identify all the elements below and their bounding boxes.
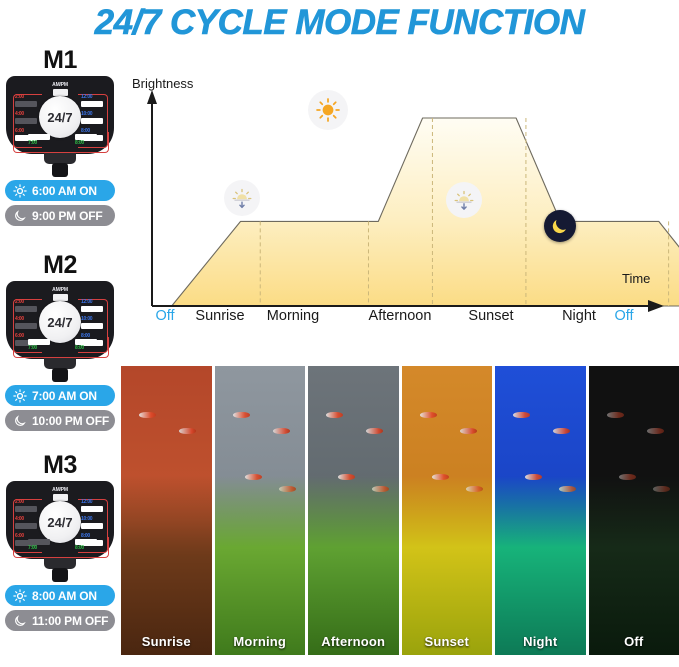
timer-button-switch[interactable] xyxy=(15,118,37,124)
fish-silhouette xyxy=(607,412,624,418)
timer-controller-device[interactable]: AM/PM24/72:004:006:0012:0010:008:007:008… xyxy=(6,76,114,176)
x-tick-off-0: Off xyxy=(155,308,174,324)
moon-icon xyxy=(13,209,27,223)
moon-icon xyxy=(13,414,27,428)
y-axis-arrow xyxy=(147,90,157,104)
schedule-off-badge: 11:00 PM OFF xyxy=(5,610,115,631)
fish-silhouette xyxy=(553,428,570,434)
timer-button-label: 8:00 xyxy=(75,345,97,351)
panel-plants xyxy=(402,476,493,655)
timer-button-label: 7:00 xyxy=(28,345,50,351)
timer-button-switch[interactable] xyxy=(15,323,37,329)
timer-button-label: 10:00 xyxy=(81,316,103,322)
timer-button-right-0[interactable]: 12:00 xyxy=(81,299,103,312)
photo-panel-sunset: Sunset xyxy=(402,366,493,655)
x-tick-sunrise-1: Sunrise xyxy=(195,308,244,324)
mode-title: M2 xyxy=(0,251,120,279)
panel-plants xyxy=(215,476,306,655)
timer-controller-device[interactable]: AM/PM24/72:004:006:0012:0010:008:007:008… xyxy=(6,281,114,381)
brightness-cycle-chart: Brightness Time xyxy=(124,78,679,336)
photo-panel-off: Off xyxy=(589,366,679,655)
panel-plants xyxy=(495,476,586,655)
timer-button-label: 10:00 xyxy=(81,516,103,522)
timer-button-left-1[interactable]: 4:00 xyxy=(15,316,37,329)
timer-button-right-0[interactable]: 12:00 xyxy=(81,499,103,512)
fish-silhouette xyxy=(647,428,664,434)
sun-icon xyxy=(308,90,348,130)
timer-button-switch[interactable] xyxy=(15,523,37,529)
timer-button-label: 4:00 xyxy=(15,316,37,322)
chart-svg: Brightness Time xyxy=(124,78,679,336)
fish-silhouette xyxy=(273,428,290,434)
y-axis-label: Brightness xyxy=(132,78,194,91)
timer-button-label: 12:00 xyxy=(81,499,103,505)
x-tick-sunset-4: Sunset xyxy=(468,308,513,324)
sun-icon xyxy=(13,389,27,403)
timer-button-label: 2:00 xyxy=(15,499,37,505)
schedule-on-badge: 7:00 AM ON xyxy=(5,385,115,406)
timer-button-label: 4:00 xyxy=(15,111,37,117)
mode-block-m1: M1AM/PM24/72:004:006:0012:0010:008:007:0… xyxy=(0,46,120,226)
schedule-off-label: 9:00 PM OFF xyxy=(32,209,102,223)
timer-button-switch[interactable] xyxy=(81,523,103,529)
ampm-button[interactable]: AM/PM xyxy=(47,287,73,301)
panel-plants xyxy=(121,476,212,655)
timer-button-label: 7:00 xyxy=(28,545,50,551)
timer-button-switch[interactable] xyxy=(81,506,103,512)
fish-silhouette xyxy=(420,412,437,418)
timer-button-right-1[interactable]: 10:00 xyxy=(81,516,103,529)
ampm-label: AM/PM xyxy=(47,287,73,293)
schedule-on-label: 7:00 AM ON xyxy=(32,389,97,403)
timer-button-label: 12:00 xyxy=(81,299,103,305)
sunset-icon xyxy=(446,182,482,218)
device-cable xyxy=(52,568,68,582)
timer-button-switch[interactable] xyxy=(81,306,103,312)
timer-button-bottom-0[interactable]: 7:00 xyxy=(28,538,50,551)
x-axis-tick-labels: OffSunriseMorningAfternoonSunsetNightOff xyxy=(124,308,679,332)
ampm-label: AM/PM xyxy=(47,82,73,88)
ampm-label: AM/PM xyxy=(47,487,73,493)
fish-silhouette xyxy=(513,412,530,418)
timer-button-label: 8:00 xyxy=(75,545,97,551)
ampm-switch[interactable] xyxy=(53,494,68,501)
cycle-knob[interactable]: 24/7 xyxy=(39,96,81,138)
fish-silhouette xyxy=(179,428,196,434)
timer-button-switch[interactable] xyxy=(15,306,37,312)
timer-button-right-0[interactable]: 12:00 xyxy=(81,94,103,107)
sun-icon xyxy=(13,184,27,198)
fish-silhouette xyxy=(326,412,343,418)
panel-plants xyxy=(308,476,399,655)
timer-button-switch[interactable] xyxy=(81,118,103,124)
photo-panel-caption: Off xyxy=(589,634,679,649)
timer-button-right-1[interactable]: 10:00 xyxy=(81,316,103,329)
ampm-button[interactable]: AM/PM xyxy=(47,82,73,96)
photo-panel-sunrise: Sunrise xyxy=(121,366,212,655)
x-axis-label: Time xyxy=(622,271,650,286)
schedule-on-label: 6:00 AM ON xyxy=(32,184,97,198)
photo-panel-caption: Sunset xyxy=(402,634,493,649)
timer-button-switch[interactable] xyxy=(15,101,37,107)
photo-panel-caption: Morning xyxy=(215,634,306,649)
schedule-on-badge: 8:00 AM ON xyxy=(5,585,115,606)
photo-panel-caption: Night xyxy=(495,634,586,649)
cycle-knob[interactable]: 24/7 xyxy=(39,301,81,343)
x-tick-off-6: Off xyxy=(614,308,633,324)
timer-button-switch[interactable] xyxy=(15,506,37,512)
timer-button-bottom-1[interactable]: 8:00 xyxy=(75,133,97,146)
fish-silhouette xyxy=(366,428,383,434)
timer-button-bottom-1[interactable]: 8:00 xyxy=(75,538,97,551)
sun-icon xyxy=(13,589,27,603)
schedule-on-badge: 6:00 AM ON xyxy=(5,180,115,201)
ampm-button[interactable]: AM/PM xyxy=(47,487,73,501)
timer-button-label: 8:00 xyxy=(75,140,97,146)
schedule-off-label: 11:00 PM OFF xyxy=(32,614,108,628)
timer-button-label: 10:00 xyxy=(81,111,103,117)
timer-button-bottom-0[interactable]: 7:00 xyxy=(28,338,50,351)
schedule-off-label: 10:00 PM OFF xyxy=(32,414,109,428)
timer-button-left-0[interactable]: 2:00 xyxy=(15,94,37,107)
mode-block-m2: M2AM/PM24/72:004:006:0012:0010:008:007:0… xyxy=(0,251,120,431)
aquarium-photo-strip: SunriseMorningAfternoonSunsetNightOff xyxy=(121,366,679,655)
timer-button-label: 7:00 xyxy=(28,140,50,146)
schedule-off-badge: 9:00 PM OFF xyxy=(5,205,115,226)
sunrise-icon xyxy=(224,180,260,216)
mode-title: M1 xyxy=(0,46,120,74)
photo-panel-night: Night xyxy=(495,366,586,655)
timer-controller-device[interactable]: AM/PM24/72:004:006:0012:0010:008:007:008… xyxy=(6,481,114,581)
timer-button-switch[interactable] xyxy=(81,323,103,329)
timer-button-bottom-0[interactable]: 7:00 xyxy=(28,133,50,146)
photo-panel-caption: Sunrise xyxy=(121,634,212,649)
panel-plants xyxy=(589,476,679,655)
cycle-knob[interactable]: 24/7 xyxy=(39,501,81,543)
schedule-off-badge: 10:00 PM OFF xyxy=(5,410,115,431)
mode-block-m3: M3AM/PM24/72:004:006:0012:0010:008:007:0… xyxy=(0,451,120,631)
timer-button-label: 4:00 xyxy=(15,516,37,522)
mode-list: M1AM/PM24/72:004:006:0012:0010:008:007:0… xyxy=(0,46,120,667)
device-cable xyxy=(52,163,68,177)
moon-icon xyxy=(13,614,27,628)
timer-button-label: 2:00 xyxy=(15,299,37,305)
device-cable xyxy=(52,368,68,382)
ampm-switch[interactable] xyxy=(53,89,68,96)
moon-icon xyxy=(544,210,576,242)
schedule-on-label: 8:00 AM ON xyxy=(32,589,97,603)
timer-button-switch[interactable] xyxy=(81,101,103,107)
page-title: 24/7 CYCLE MODE FUNCTION xyxy=(0,0,679,46)
timer-button-right-1[interactable]: 10:00 xyxy=(81,111,103,124)
mode-title: M3 xyxy=(0,451,120,479)
photo-panel-morning: Morning xyxy=(215,366,306,655)
x-tick-morning-2: Morning xyxy=(267,308,319,324)
fish-silhouette xyxy=(233,412,250,418)
ampm-switch[interactable] xyxy=(53,294,68,301)
timer-button-left-0[interactable]: 2:00 xyxy=(15,499,37,512)
timer-button-left-1[interactable]: 4:00 xyxy=(15,111,37,124)
timer-button-label: 2:00 xyxy=(15,94,37,100)
photo-panel-caption: Afternoon xyxy=(308,634,399,649)
timer-button-left-0[interactable]: 2:00 xyxy=(15,299,37,312)
timer-button-left-1[interactable]: 4:00 xyxy=(15,516,37,529)
timer-button-bottom-1[interactable]: 8:00 xyxy=(75,338,97,351)
x-tick-afternoon-3: Afternoon xyxy=(369,308,432,324)
fish-silhouette xyxy=(139,412,156,418)
x-tick-night-5: Night xyxy=(562,308,596,324)
fish-silhouette xyxy=(460,428,477,434)
timer-button-label: 12:00 xyxy=(81,94,103,100)
photo-panel-afternoon: Afternoon xyxy=(308,366,399,655)
